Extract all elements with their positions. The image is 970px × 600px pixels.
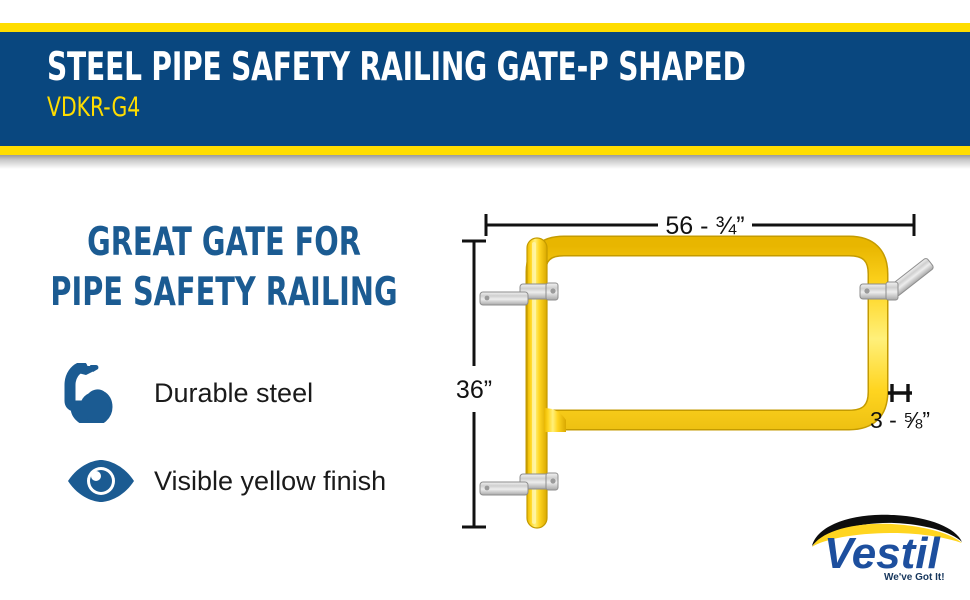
feature-label: Durable steel bbox=[154, 378, 313, 409]
logo-brand: Vestil bbox=[824, 529, 941, 578]
flexed-bicep-icon bbox=[60, 362, 142, 424]
gate-frame bbox=[527, 238, 878, 528]
headline-line-1: GREAT GATE FOR bbox=[40, 218, 407, 268]
page-header: STEEL PIPE SAFETY RAILING GATE-P SHAPED … bbox=[0, 23, 970, 169]
feature-durable-steel: Durable steel bbox=[60, 362, 313, 424]
height-dimension-label: 36” bbox=[456, 376, 492, 404]
depth-dimension bbox=[888, 384, 912, 402]
header-band: STEEL PIPE SAFETY RAILING GATE-P SHAPED … bbox=[0, 32, 970, 146]
eye-icon bbox=[60, 450, 142, 512]
marketing-headline: GREAT GATE FOR PIPE SAFETY RAILING bbox=[0, 218, 448, 318]
headline-line-2: PIPE SAFETY RAILING bbox=[40, 268, 407, 318]
feature-visible-yellow-finish: Visible yellow finish bbox=[60, 450, 386, 512]
product-diagram: 56 - ¾” 36” bbox=[440, 180, 970, 560]
header-top-rule bbox=[0, 23, 970, 32]
logo-tagline: We've Got It! bbox=[884, 572, 945, 583]
model-number: VDKR-G4 bbox=[47, 92, 140, 123]
depth-dimension-label: 3 - ⅝” bbox=[870, 407, 930, 433]
page-title: STEEL PIPE SAFETY RAILING GATE-P SHAPED bbox=[47, 45, 746, 90]
feature-label: Visible yellow finish bbox=[154, 466, 386, 497]
header-drop-shadow bbox=[0, 155, 970, 169]
vestil-logo: Vestil We've Got It! bbox=[806, 512, 966, 586]
header-bottom-rule bbox=[0, 146, 970, 155]
